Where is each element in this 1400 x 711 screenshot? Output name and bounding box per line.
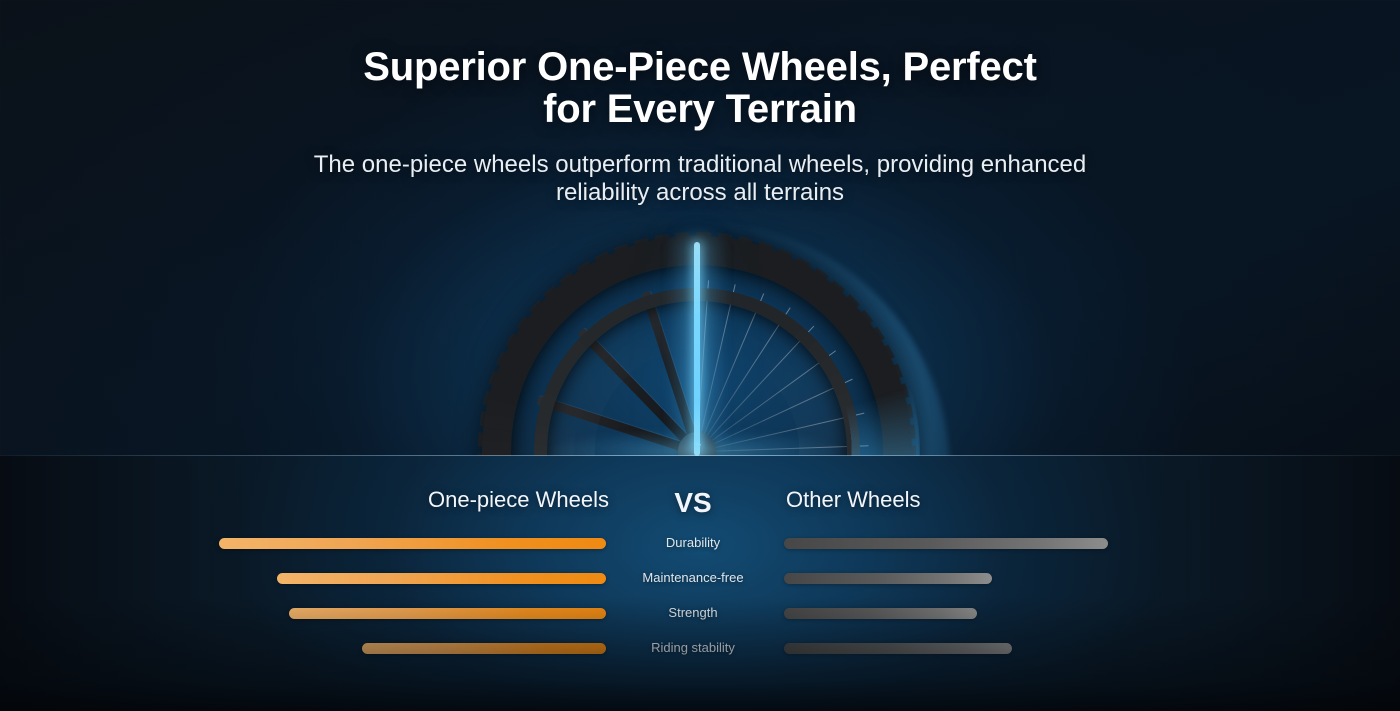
headline-line-2: for Every Terrain xyxy=(0,88,1400,130)
versus-label: VS xyxy=(643,487,743,519)
comparison-row: Maintenance-free xyxy=(0,561,1400,596)
bar-other-wheels xyxy=(784,643,1012,654)
page-title: Superior One-Piece Wheels, Perfect for E… xyxy=(0,46,1400,130)
bar-one-piece xyxy=(277,573,606,584)
bar-one-piece xyxy=(362,643,606,654)
column-header-one-piece: One-piece Wheels xyxy=(0,487,609,513)
row-label: Riding stability xyxy=(613,640,773,655)
subhead-line-1: The one-piece wheels outperform traditio… xyxy=(314,151,1086,178)
comparison-rows: DurabilityMaintenance-freeStrengthRiding… xyxy=(0,526,1400,666)
bar-one-piece xyxy=(289,608,606,619)
page-subtitle: The one-piece wheels outperform traditio… xyxy=(0,151,1400,207)
comparison-row: Strength xyxy=(0,596,1400,631)
comparison-section: One-piece Wheels VS Other Wheels Durabil… xyxy=(0,456,1400,711)
subhead-line-2: reliability across all terrains xyxy=(0,179,1400,207)
bar-other-wheels xyxy=(784,538,1108,549)
column-header-other: Other Wheels xyxy=(786,487,921,513)
comparison-row: Riding stability xyxy=(0,631,1400,666)
bar-other-wheels xyxy=(784,608,977,619)
hero-section: Superior One-Piece Wheels, Perfect for E… xyxy=(0,0,1400,456)
row-label: Durability xyxy=(613,535,773,550)
center-light-beam xyxy=(694,242,700,456)
row-label: Strength xyxy=(613,605,773,620)
row-label: Maintenance-free xyxy=(613,570,773,585)
comparison-row: Durability xyxy=(0,526,1400,561)
wheel-illustration: ⌁ xyxy=(468,236,932,456)
headline-line-1: Superior One-Piece Wheels, Perfect xyxy=(363,45,1036,89)
bar-one-piece xyxy=(219,538,606,549)
bar-other-wheels xyxy=(784,573,992,584)
promo-banner: Superior One-Piece Wheels, Perfect for E… xyxy=(0,0,1400,711)
